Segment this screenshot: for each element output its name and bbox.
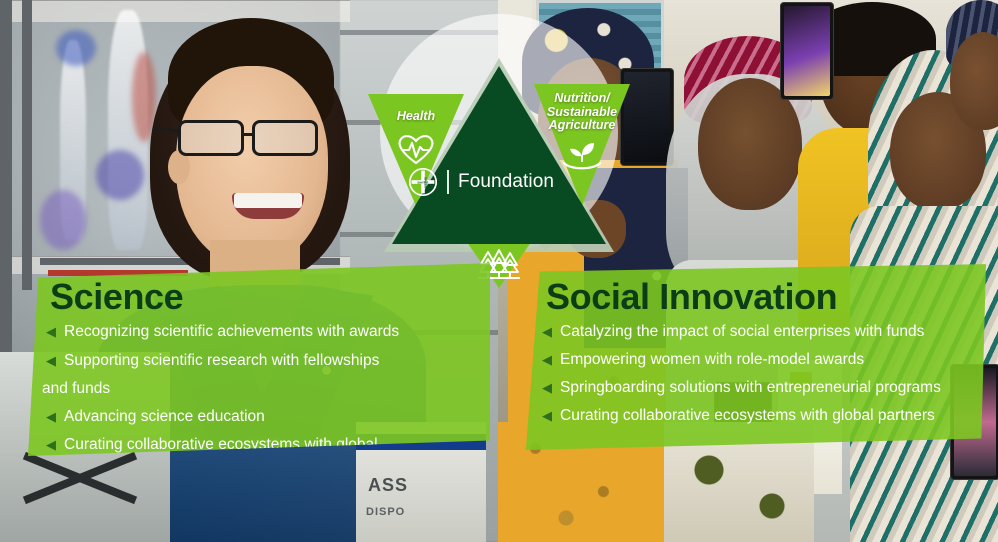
panel-social-innovation: Social Innovation ◀ Catalyzing the impac… [524, 258, 986, 450]
brand-name: Foundation [458, 171, 554, 193]
panel-science-heading: Science [50, 276, 183, 318]
logo-triangle-core [368, 14, 630, 290]
svg-text:BAYER: BAYER [424, 177, 428, 188]
science-bullet-1-text: Recognizing scientific achievements with… [64, 322, 399, 341]
bayer-foundation-logo: Health Nutrition/ Sustainable Agricultur… [368, 14, 630, 290]
banner-root: ASS DISPO [0, 0, 998, 542]
social-bullet-4: ◀ Curating collaborative ecosystems with… [542, 406, 935, 425]
science-bullet-2-text: Supporting scientific research with fell… [64, 351, 379, 370]
social-bullet-3-text: Springboarding solutions with entreprene… [560, 378, 941, 397]
social-bullet-1-text: Catalyzing the impact of social enterpri… [560, 322, 924, 341]
science-bullet-3-text: Advancing science education [64, 407, 265, 426]
brand-divider [447, 170, 449, 194]
lab-stain [96, 150, 144, 200]
scientist-smile [232, 193, 304, 219]
lab-frame [22, 0, 32, 290]
brand-row: BAYER BAYER Foundation [408, 164, 594, 200]
bullet-marker-icon: ◀ [46, 351, 56, 370]
lab-stain [40, 190, 86, 250]
scientist-face [176, 66, 328, 266]
smartphone [780, 2, 834, 100]
social-bullet-2: ◀ Empowering women with role-model award… [542, 350, 864, 369]
bullet-marker-icon: ◀ [542, 350, 552, 369]
bullet-marker-icon: ◀ [542, 378, 552, 397]
science-bullet-1: ◀ Recognizing scientific achievements wi… [46, 322, 399, 341]
lab-shelf [0, 0, 350, 22]
bayer-cross-icon: BAYER BAYER [408, 167, 438, 197]
bullet-marker-icon: ◀ [542, 322, 552, 341]
science-bullet-2: ◀ Supporting scientific research with fe… [46, 351, 379, 370]
social-bullet-2-text: Empowering women with role-model awards [560, 350, 864, 369]
bullet-marker-icon: ◀ [542, 406, 552, 425]
bullet-marker-icon: ◀ [46, 435, 56, 454]
panel-science: Science ◀ Recognizing scientific achieve… [28, 262, 490, 456]
lab-stain [56, 30, 96, 66]
waste-bin-label-line1: ASS [368, 475, 408, 496]
science-bullet-3: ◀ Advancing science education [46, 407, 265, 426]
social-bullet-4-text: Curating collaborative ecosystems with g… [560, 406, 935, 425]
panel-social-heading: Social Innovation [546, 276, 837, 318]
social-bullet-3: ◀ Springboarding solutions with entrepre… [542, 378, 941, 397]
bullet-marker-icon: ◀ [46, 407, 56, 426]
waste-bin-label-line2: DISPO [366, 506, 405, 518]
bullet-marker-icon: ◀ [46, 322, 56, 341]
safety-glasses-icon [178, 120, 338, 160]
science-bullet-2-continuation: and funds [42, 379, 110, 398]
social-bullet-1: ◀ Catalyzing the impact of social enterp… [542, 322, 924, 341]
